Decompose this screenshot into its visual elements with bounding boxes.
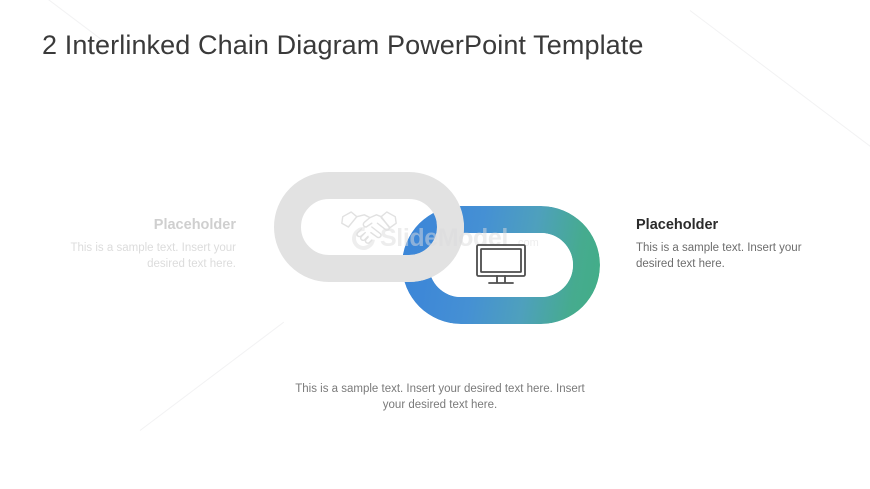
caption-right-body: This is a sample text. Insert your desir…	[636, 240, 826, 272]
slide-canvas: 2 Interlinked Chain Diagram PowerPoint T…	[0, 0, 870, 489]
chain-diagram	[262, 168, 612, 333]
footer-note: This is a sample text. Insert your desir…	[285, 381, 595, 413]
decorative-hairline	[140, 322, 284, 431]
caption-right: Placeholder This is a sample text. Inser…	[636, 216, 826, 272]
caption-left-body: This is a sample text. Insert your desir…	[56, 240, 236, 272]
caption-right-heading: Placeholder	[636, 216, 826, 235]
page-title: 2 Interlinked Chain Diagram PowerPoint T…	[42, 28, 644, 62]
monitor-icon	[444, 226, 558, 304]
handshake-icon	[314, 190, 424, 264]
caption-left-heading: Placeholder	[56, 216, 236, 235]
decorative-hairline	[690, 10, 870, 149]
caption-left: Placeholder This is a sample text. Inser…	[56, 216, 236, 272]
